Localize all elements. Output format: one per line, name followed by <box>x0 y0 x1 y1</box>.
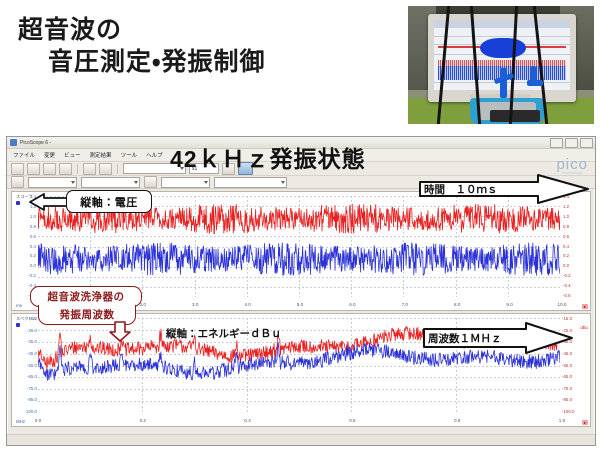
spectrum-x-tick: 0.2 <box>140 418 146 423</box>
spectrum-y-tick: -35.0 <box>13 339 37 344</box>
scope-y-tick: 0.6 <box>13 234 36 239</box>
scope-y-tick: 0.0 <box>13 263 36 268</box>
spectrum-mode-icon[interactable] <box>27 163 40 175</box>
trigger-combo[interactable] <box>214 177 287 188</box>
scope-y-tick-right: 0.4 <box>563 244 589 249</box>
spectrum-y-tick-right: -75.0 <box>562 386 589 391</box>
scope-y-tick-right: 0.8 <box>563 224 589 229</box>
spectrum-channel-marker <box>16 323 20 327</box>
spectrum-y-tick-right: -55.0 <box>562 363 589 368</box>
scope-x-tick: 5.0 <box>297 302 303 307</box>
window-controls[interactable] <box>550 138 593 148</box>
scope-x-tick: 10.0 <box>558 302 567 307</box>
range-a-combo[interactable] <box>28 177 77 188</box>
chevron-down-icon <box>71 181 75 184</box>
slide-root: 超音波の 音圧測定・発振制御 <box>0 0 600 450</box>
chevron-down-icon <box>134 181 138 184</box>
scope-y-tick: 0.8 <box>13 224 36 229</box>
app-icon <box>10 139 17 146</box>
channel-b-icon[interactable] <box>144 176 157 188</box>
spectrum-y-tick: -25.0 <box>13 328 37 333</box>
persistence-mode-icon[interactable] <box>43 163 56 175</box>
home-icon[interactable] <box>99 163 112 175</box>
spectrum-status-tag: ▸ <box>582 420 588 425</box>
spectrum-y-unit: dBu <box>580 325 588 330</box>
scope-x-tick: 3.0 <box>192 302 198 307</box>
spectrum-y-tick: -85.0 <box>13 397 37 402</box>
voltage-axis-callout: 縦軸：電圧 <box>66 190 152 213</box>
menu-item-tools[interactable]: ツール <box>121 151 138 159</box>
scope-y-tick-right: -0.2 <box>563 273 589 278</box>
title-line-2: 音圧測定・発振制御 <box>18 46 408 78</box>
close-button[interactable] <box>580 138 593 148</box>
scope-y-tick-right: 0.0 <box>563 263 589 268</box>
menu-item-help[interactable]: ヘルプ <box>146 151 163 159</box>
spectrum-y-tick: -45.0 <box>13 351 37 356</box>
spectrum-y-tick: -65.0 <box>13 374 37 379</box>
coupling-a-combo[interactable] <box>81 177 140 188</box>
spectrum-x-tick: 1.0 <box>559 418 565 423</box>
channel-setup-icon[interactable] <box>59 163 72 175</box>
menu-item-view[interactable]: ビュー <box>64 151 81 159</box>
spectrum-x-tick: 0.8 <box>454 418 460 423</box>
ruler-icon[interactable] <box>83 163 96 175</box>
overlay-big-title: 42ｋＨｚ発振状態 <box>170 140 366 174</box>
scope-trace-b <box>38 243 560 276</box>
cleaner-freq-callout-line1: 超音波洗浄器の <box>30 286 142 307</box>
menu-item-measurements[interactable]: 測定結果 <box>90 151 112 159</box>
spectrum-y-tick-right: -85.0 <box>562 397 589 402</box>
scope-mode-icon[interactable] <box>11 163 24 175</box>
scope-y-tick-right: -0.6 <box>563 293 589 298</box>
time-callout-label: 時間 １０ｍｓ <box>424 181 528 197</box>
spectrum-y-tick-right: -15.0 <box>562 316 589 321</box>
energy-axis-label: 縦軸：エネルギーｄＢｕ <box>166 326 282 341</box>
scope-y-tick: 0.2 <box>13 253 36 258</box>
freq-callout-label: 周波数１ＭＨｚ <box>428 330 524 346</box>
scope-y-tick-right: 1.2 <box>563 204 589 209</box>
title-line-1: 超音波の <box>18 14 408 46</box>
scope-x-tick: 8.0 <box>454 302 460 307</box>
spectrum-y-tick-right: -100.0 <box>562 409 589 414</box>
menu-item-file[interactable]: ファイル <box>13 151 35 159</box>
spectrum-y-tick: -15.0 <box>13 316 37 321</box>
spectrum-x-tick: 0.4 <box>244 418 250 423</box>
scope-y-tick: 0.4 <box>13 244 36 249</box>
scope-status-tag: ▸ <box>582 304 588 309</box>
scope-y-tick-right: -0.4 <box>563 283 589 288</box>
scope-y-tick-right: 0.2 <box>563 253 589 258</box>
spectrum-y-tick: -55.0 <box>13 363 37 368</box>
spectrum-x-tick: 0.6 <box>349 418 355 423</box>
lab-photo <box>408 6 594 124</box>
spectrum-y-tick: -75.0 <box>13 386 37 391</box>
chevron-down-icon <box>204 181 208 184</box>
status-bar <box>7 434 595 445</box>
scope-y-tick-right: 1.0 <box>563 214 589 219</box>
down-arrow-icon <box>108 322 132 342</box>
chevron-down-icon <box>281 181 285 184</box>
scope-x-tick: 4.0 <box>244 302 250 307</box>
scope-x-tick: 9.0 <box>506 302 512 307</box>
channel-a-icon[interactable] <box>11 176 24 188</box>
pico-logo: pico Technology <box>556 156 588 175</box>
minimize-button[interactable] <box>550 138 563 148</box>
spectrum-y-tick: -100.0 <box>13 409 37 414</box>
page-title: 超音波の 音圧測定・発振制御 <box>18 14 408 78</box>
scope-y-tick: -0.2 <box>13 273 36 278</box>
window-title: PicoScope 6 - <box>20 140 51 146</box>
spectrum-x-unit: MHz <box>16 419 25 424</box>
scope-x-tick: 7.0 <box>402 302 408 307</box>
scope-x-tick: 6.0 <box>349 302 355 307</box>
range-b-combo[interactable] <box>161 177 210 188</box>
menu-item-edit[interactable]: 変更 <box>44 151 55 159</box>
spectrum-x-tick: 0.0 <box>35 418 41 423</box>
scope-y-tick: 1.0 <box>13 214 36 219</box>
scope-y-tick-right: 0.6 <box>563 234 589 239</box>
photo-ultrasonic-bath <box>470 98 544 124</box>
scope-x-unit: ms <box>16 303 22 308</box>
maximize-button[interactable] <box>565 138 578 148</box>
spectrum-y-tick-right: -65.0 <box>562 374 589 379</box>
